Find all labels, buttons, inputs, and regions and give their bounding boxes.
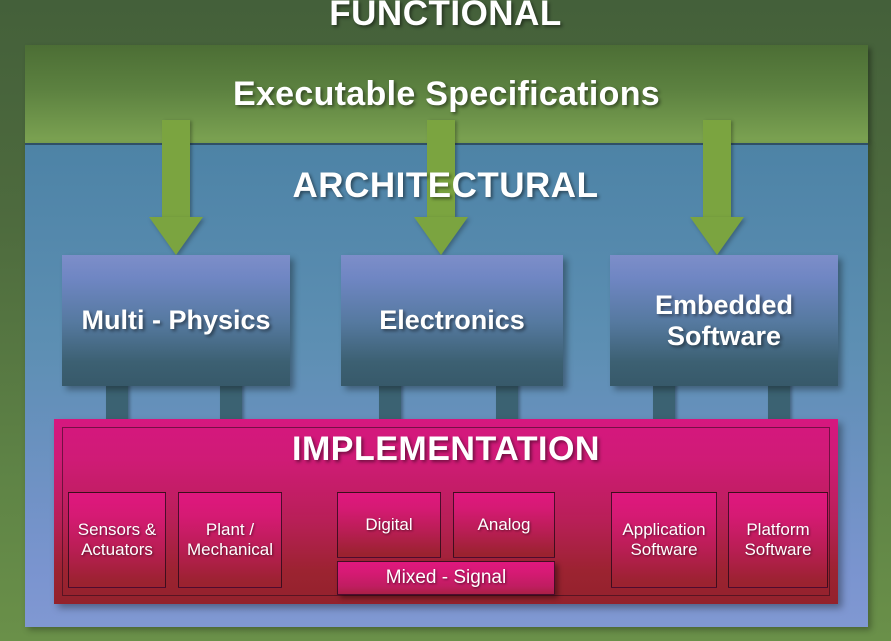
functional-layer-title: FUNCTIONAL [0, 0, 891, 34]
implementation-box-digital[interactable]: Digital [337, 492, 441, 558]
architectural-box-multi-physics[interactable]: Multi - Physics [62, 255, 290, 386]
architectural-layer-title: ARCHITECTURAL [0, 166, 891, 206]
architectural-box-label: Multi - Physics [75, 305, 276, 335]
green-arrow-head [414, 217, 468, 255]
architectural-box-embedded-software[interactable]: Embedded Software [610, 255, 838, 386]
implementation-box-analog[interactable]: Analog [453, 492, 555, 558]
implementation-box-mixed-signal[interactable]: Mixed - Signal [337, 561, 555, 595]
architectural-box-label: Embedded Software [649, 290, 799, 350]
green-arrow-head [149, 217, 203, 255]
implementation-box-plant-mechanical[interactable]: Plant / Mechanical [178, 492, 282, 588]
implementation-box-sensors-actuators[interactable]: Sensors & Actuators [68, 492, 166, 588]
implementation-box-label: Platform Software [741, 520, 814, 561]
architectural-box-electronics[interactable]: Electronics [341, 255, 563, 386]
implementation-box-label: Application Software [619, 520, 708, 561]
implementation-box-label: Plant / Mechanical [184, 520, 276, 561]
implementation-box-application-software[interactable]: Application Software [611, 492, 717, 588]
green-arrow-head [690, 217, 744, 255]
implementation-box-label: Mixed - Signal [383, 567, 509, 590]
architectural-box-label: Electronics [373, 305, 531, 335]
implementation-box-label: Analog [475, 515, 534, 535]
implementation-box-label: Digital [362, 515, 415, 535]
diagram-canvas: FUNCTIONAL Executable Specifications ARC… [0, 0, 891, 641]
implementation-box-label: Sensors & Actuators [75, 520, 159, 561]
implementation-layer-title: IMPLEMENTATION [54, 430, 838, 469]
implementation-box-platform-software[interactable]: Platform Software [728, 492, 828, 588]
executable-specifications-label: Executable Specifications [233, 75, 660, 114]
